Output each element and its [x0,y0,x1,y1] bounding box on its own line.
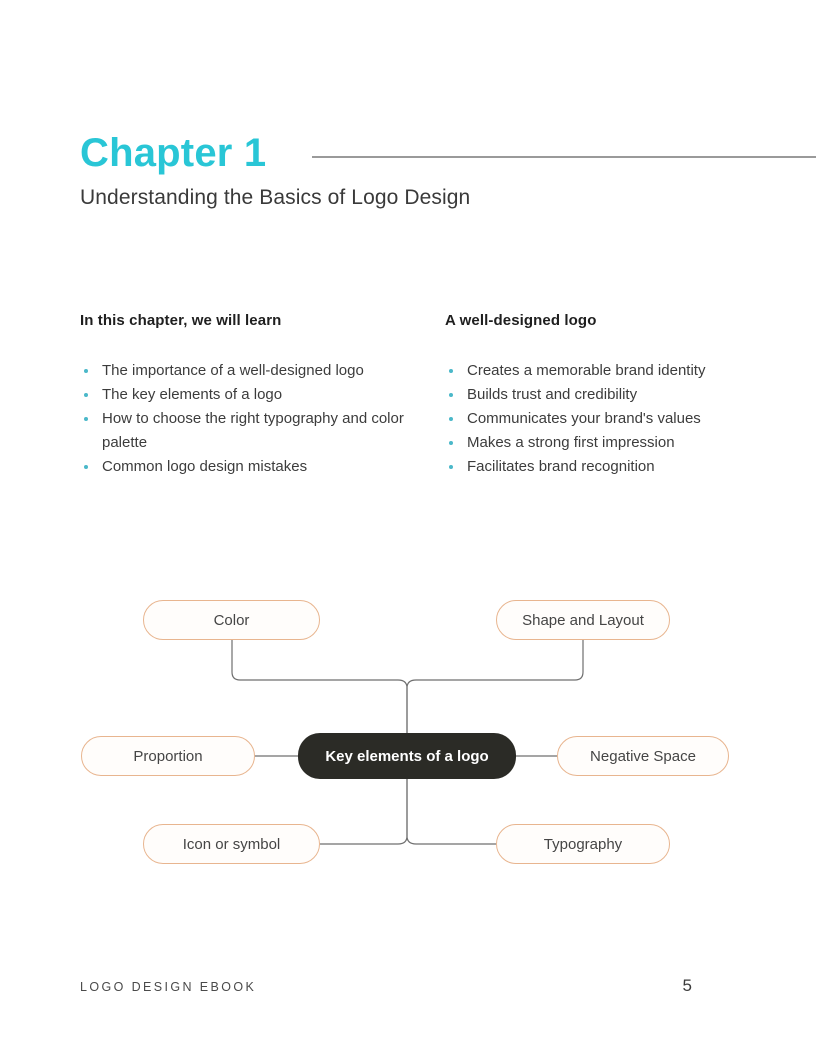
chapter-subtitle: Understanding the Basics of Logo Design [80,183,470,213]
list-item: How to choose the right typography and c… [80,407,410,455]
page-number: 5 [683,976,692,996]
header-divider [312,156,816,158]
center-node-label: Key elements of a logo [325,748,488,765]
mind-map-node-proportion[interactable]: Proportion [81,736,255,776]
page-footer: LOGO DESIGN EBOOK 5 [80,980,736,1004]
list-logo-benefits: Creates a memorable brand identity Build… [445,359,775,479]
column-logo-benefits: A well-designed logo Creates a memorable… [445,312,775,479]
mind-map-node-shape-and-layout[interactable]: Shape and Layout [496,600,670,640]
list-item: Builds trust and credibility [445,383,775,407]
mind-map-connectors [0,576,816,886]
list-learning-objectives: The importance of a well-designed logo T… [80,359,410,479]
mind-map-node-color[interactable]: Color [143,600,320,640]
key-elements-mind-map: Color Shape and Layout Proportion Negati… [0,576,816,886]
node-label: Color [214,612,250,629]
ebook-page: Chapter 1 Understanding the Basics of Lo… [0,0,816,1056]
node-label: Proportion [133,748,202,765]
chapter-header: Chapter 1 [80,128,816,184]
mind-map-node-typography[interactable]: Typography [496,824,670,864]
list-item: Makes a strong first impression [445,431,775,455]
mind-map-center-node[interactable]: Key elements of a logo [298,733,516,779]
column-heading-left: In this chapter, we will learn [80,312,410,329]
list-item: Creates a memorable brand identity [445,359,775,383]
footer-brand: LOGO DESIGN EBOOK [80,980,256,994]
list-item: The key elements of a logo [80,383,410,407]
list-item: Communicates your brand's values [445,407,775,431]
mind-map-node-icon-or-symbol[interactable]: Icon or symbol [143,824,320,864]
node-label: Icon or symbol [183,836,281,853]
column-heading-right: A well-designed logo [445,312,775,329]
node-label: Typography [544,836,622,853]
column-learning-objectives: In this chapter, we will learn The impor… [80,312,410,479]
mind-map-node-negative-space[interactable]: Negative Space [557,736,729,776]
node-label: Shape and Layout [522,612,644,629]
page-title: Chapter 1 [80,128,266,178]
node-label: Negative Space [590,748,696,765]
list-item: Common logo design mistakes [80,455,410,479]
list-item: The importance of a well-designed logo [80,359,410,383]
list-item: Facilitates brand recognition [445,455,775,479]
